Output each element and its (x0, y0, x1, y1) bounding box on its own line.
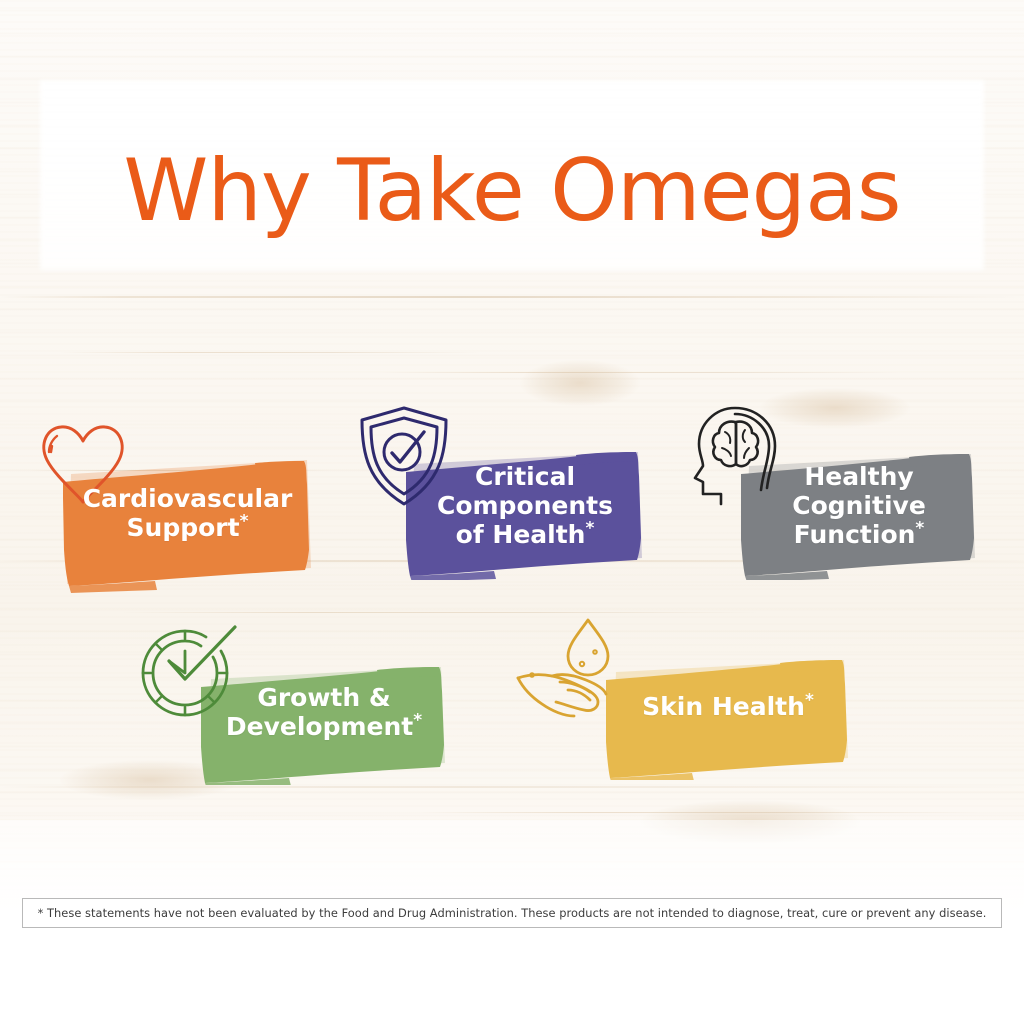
wood-grain-line (120, 612, 760, 613)
page-title: Why Take Omegas (0, 148, 1024, 234)
benefit-card-growth-and-development[interactable]: Growth & Development* (195, 655, 453, 785)
benefit-label: Growth & Development* (195, 683, 453, 741)
benefit-card-skin-health[interactable]: Skin Health* (600, 648, 856, 780)
fda-disclaimer-text: * These statements have not been evaluat… (38, 906, 987, 920)
benefit-label: Critical Components of Health* (400, 462, 650, 549)
fda-disclaimer-box: * These statements have not been evaluat… (22, 898, 1002, 928)
wood-grain-line (380, 372, 900, 373)
benefit-label: Cardiovascular Support* (55, 484, 320, 542)
benefit-card-healthy-cognitive-function[interactable]: Healthy Cognitive Function* (735, 440, 983, 580)
wood-knot (520, 360, 640, 406)
benefit-label: Skin Health* (600, 692, 856, 721)
infographic-canvas: Why Take Omegas Cardiovascular Support* (0, 0, 1024, 1024)
wood-plank-seam (0, 296, 1024, 298)
wood-grain-line (60, 352, 480, 353)
benefit-card-critical-components-of-health[interactable]: Critical Components of Health* (400, 438, 650, 580)
benefit-label: Healthy Cognitive Function* (735, 462, 983, 549)
benefit-card-cardiovascular-support[interactable]: Cardiovascular Support* (55, 444, 320, 594)
